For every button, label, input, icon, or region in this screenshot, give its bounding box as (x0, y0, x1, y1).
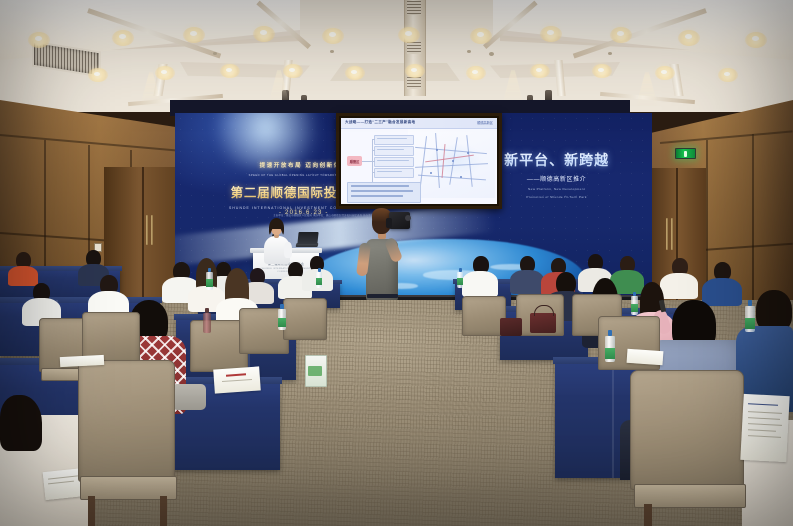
water-bottle (631, 292, 638, 315)
water-bottle (206, 268, 213, 290)
water-bottle (605, 330, 615, 362)
handout-paper (627, 349, 664, 365)
chair[interactable] (283, 298, 325, 350)
ceiling (0, 0, 793, 112)
projection-screen: 大战略——打造“二三产”融合发展新高地 顺德高新区 顺德区 (341, 118, 497, 204)
chair-foreground[interactable] (78, 360, 173, 520)
backdrop-footnote: 主办单位：佛山市顺德区人民政府 承办单位：佛山市顺德区经济和科技促进局 协办单位… (185, 213, 481, 217)
handbag (530, 313, 556, 333)
slide-logo: 顺德高新区 (477, 120, 493, 125)
water-bottle (745, 300, 755, 332)
water-bottle (278, 304, 286, 330)
slide-flow-badge: 顺德区 (347, 156, 362, 166)
water-bottle (316, 268, 322, 288)
water-bottle (203, 308, 211, 333)
attendee-trousers (172, 384, 206, 410)
conference-hall-photo: 提速开放布局 迈向创新体系 SPEED UP THE GLOBAL OPENIN… (0, 0, 793, 526)
exit-sign (675, 148, 696, 159)
handbag (500, 318, 522, 336)
water-bottle (457, 268, 463, 288)
chair-foreground-right[interactable] (630, 370, 742, 526)
projection-screen-frame: 大战略——打造“二三产”融合发展新高地 顺德高新区 顺德区 (336, 113, 502, 209)
chair[interactable] (462, 296, 504, 348)
slide-header-title: 大战略——打造“二三产”融合发展新高地 (345, 120, 415, 125)
